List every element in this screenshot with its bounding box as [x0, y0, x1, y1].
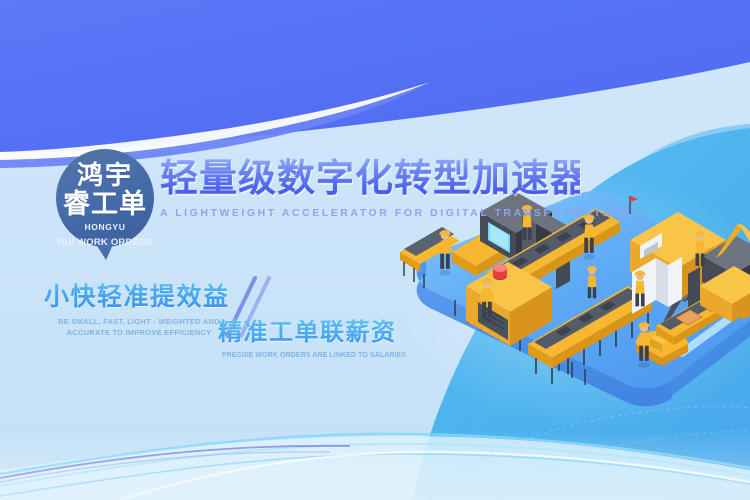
promotional-banner: 鸿宇 睿工单 HONGYU RUI WORK ORDERS 轻量级数字化转型加速…: [0, 0, 750, 500]
tagline-primary-en: BE SMALL, FAST, LIGHT - WEIGHTED AND ACC…: [48, 317, 230, 339]
headline-block: 轻量级数字化转型加速器 A LIGHTWEIGHT ACCELERATOR FO…: [160, 158, 580, 219]
tagline-primary: 小快轻准提效益 BE SMALL, FAST, LIGHT - WEIGHTED…: [44, 277, 230, 339]
tagline-primary-en-line1: BE SMALL, FAST, LIGHT - WEIGHTED AND: [48, 317, 230, 328]
tagline-secondary-cn: 精准工单联薪资: [218, 312, 408, 347]
logo-cn-line2: 睿工单: [63, 190, 147, 219]
headline-en: A LIGHTWEIGHT ACCELERATOR FOR DIGITAL TR…: [160, 207, 580, 219]
logo-en-line1: HONGYU: [85, 222, 126, 233]
headline-cn: 轻量级数字化转型加速器: [160, 158, 580, 200]
tagline-secondary-en: PRECISE WORK ORDERS ARE LINKED TO SALARI…: [220, 351, 408, 361]
tagline-secondary: 精准工单联薪资 PRECISE WORK ORDERS ARE LINKED T…: [218, 312, 408, 361]
logo-en-line2: RUI WORK ORDERS: [57, 237, 152, 250]
tagline-primary-cn: 小快轻准提效益: [44, 277, 230, 313]
logo-badge: 鸿宇 睿工单 HONGYU RUI WORK ORDERS: [46, 148, 164, 260]
tagline-primary-en-line2: ACCURATE TO IMPROVE EFFICIENCY: [48, 328, 230, 339]
logo-cn-line1: 鸿宇: [77, 162, 133, 190]
